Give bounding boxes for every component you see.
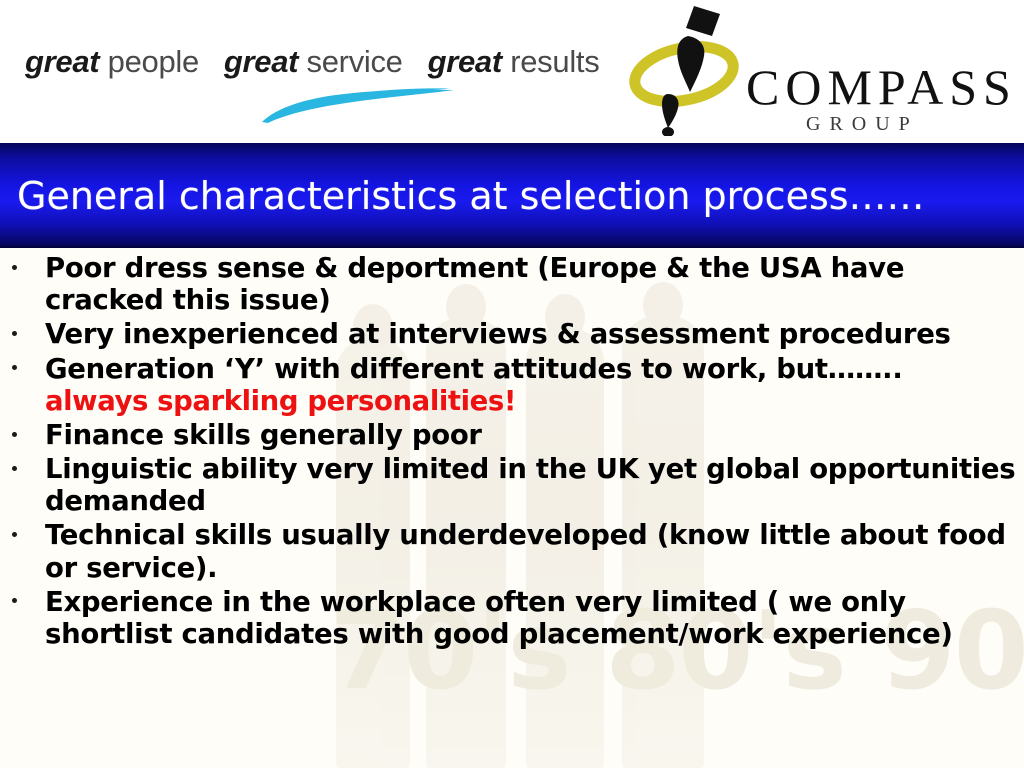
slide-header: great people great service great results… bbox=[0, 0, 1024, 143]
presentation-slide: 70's 80's 90's great people great servic… bbox=[0, 0, 1024, 768]
bullet-list: Poor dress sense & deportment (Europe & … bbox=[0, 252, 1024, 650]
bullet-dot-icon bbox=[12, 331, 17, 336]
bullet-item: Experience in the workplace often very l… bbox=[0, 586, 1024, 650]
tagline-bold-1: great bbox=[25, 44, 99, 79]
tagline-word-3: results bbox=[510, 44, 599, 79]
brand-swoosh-icon bbox=[258, 86, 458, 124]
bullet-dot-icon bbox=[12, 598, 17, 603]
bullet-text: Technical skills usually underdeveloped … bbox=[45, 519, 1006, 583]
compass-group-logo: COMPASS GROUP bbox=[628, 2, 1008, 140]
logo-wordmark: COMPASS bbox=[746, 62, 1017, 112]
page-title: General characteristics at selection pro… bbox=[0, 177, 925, 215]
bullet-dot-icon bbox=[12, 466, 17, 471]
compass-figure-icon bbox=[628, 2, 746, 136]
bullet-text: Experience in the workplace often very l… bbox=[45, 586, 953, 650]
bullet-dot-icon bbox=[12, 432, 17, 437]
bullet-text: Poor dress sense & deportment (Europe & … bbox=[45, 252, 904, 316]
bullet-item: Very inexperienced at interviews & asses… bbox=[0, 318, 1024, 350]
bullet-text: Generation ‘Y’ with different attitudes … bbox=[45, 353, 902, 385]
tagline-bold-2: great bbox=[224, 44, 298, 79]
bullet-text: Very inexperienced at interviews & asses… bbox=[45, 318, 951, 350]
slide-body: Poor dress sense & deportment (Europe & … bbox=[0, 252, 1024, 652]
tagline-word-1: people bbox=[108, 44, 199, 79]
bullet-item: Finance skills generally poor bbox=[0, 419, 1024, 451]
bullet-text: Finance skills generally poor bbox=[45, 419, 482, 451]
slide-title-bar: General characteristics at selection pro… bbox=[0, 143, 1024, 248]
bullet-item: Technical skills usually underdeveloped … bbox=[0, 519, 1024, 583]
bullet-dot-icon bbox=[12, 265, 17, 270]
tagline-word-2: service bbox=[307, 44, 403, 79]
bullet-item: Generation ‘Y’ with different attitudes … bbox=[0, 353, 1024, 417]
bullet-highlight-text: always sparkling personalities! bbox=[45, 385, 1024, 417]
bullet-item: Poor dress sense & deportment (Europe & … bbox=[0, 252, 1024, 316]
bullet-dot-icon bbox=[12, 365, 17, 370]
brand-tagline: great people great service great results bbox=[25, 44, 599, 80]
tagline-bold-3: great bbox=[428, 44, 502, 79]
bullet-text: Linguistic ability very limited in the U… bbox=[45, 453, 1015, 517]
bullet-item: Linguistic ability very limited in the U… bbox=[0, 453, 1024, 517]
bullet-dot-icon bbox=[12, 532, 17, 537]
logo-submark: GROUP bbox=[806, 114, 919, 134]
